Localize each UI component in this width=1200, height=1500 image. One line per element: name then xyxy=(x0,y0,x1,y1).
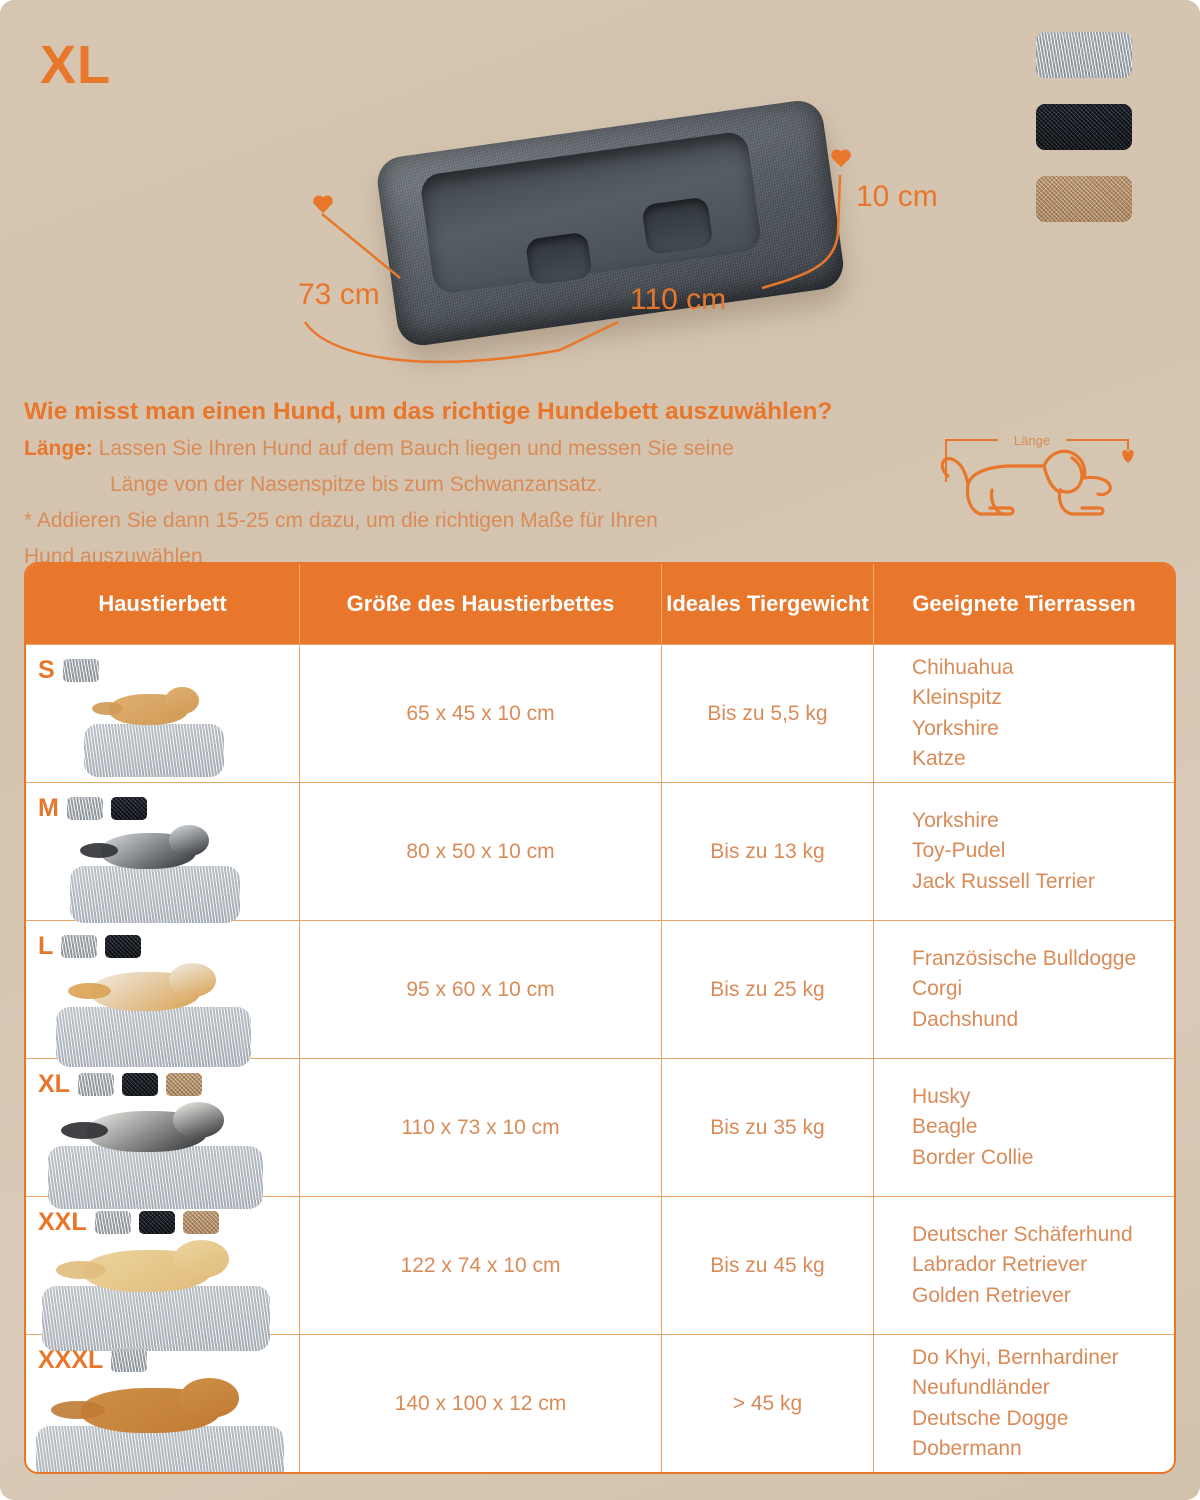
cell-bed-size: 65 x 45 x 10 cm xyxy=(300,645,662,782)
breed-item: Do Khyi, Bernhardiner xyxy=(912,1343,1174,1373)
cell-weight: Bis zu 13 kg xyxy=(662,783,874,920)
size-chart-table: Haustierbett Größe des Haustierbettes Id… xyxy=(24,562,1176,1474)
cell-bed-preview: L xyxy=(26,921,300,1058)
cell-weight: Bis zu 35 kg xyxy=(662,1059,874,1196)
cell-breeds: HuskyBeagleBorder Collie xyxy=(874,1059,1174,1196)
breed-item: Chihuahua xyxy=(912,653,1174,683)
row-swatch-tan[interactable] xyxy=(166,1073,202,1096)
note-line-1: * Addieren Sie dann 15-25 cm dazu, um di… xyxy=(24,507,924,536)
length-instruction-text: Lassen Sie Ihren Hund auf dem Bauch lieg… xyxy=(99,437,734,460)
row-swatch-gray[interactable] xyxy=(78,1073,114,1096)
heart-marker-depth-icon xyxy=(312,196,334,216)
infographic-page: XL 73 cm 110 cm 10 cm Wie misst man eine… xyxy=(0,0,1200,1500)
swatch-tan[interactable] xyxy=(1036,176,1132,222)
cell-bed-preview: XL xyxy=(26,1059,300,1196)
cell-breeds: Do Khyi, BernhardinerNeufundländerDeutsc… xyxy=(874,1335,1174,1472)
breed-item: Toy-Pudel xyxy=(912,836,1174,866)
illustration-length-label: Länge xyxy=(1014,433,1050,448)
breed-item: Golden Retriever xyxy=(912,1281,1174,1311)
bed-tuft xyxy=(641,196,713,255)
bed-mat xyxy=(84,724,224,777)
cell-weight: Bis zu 25 kg xyxy=(662,921,874,1058)
dog-tail xyxy=(68,983,111,999)
column-header-breeds: Geeignete Tierrassen xyxy=(874,564,1174,644)
dog-head xyxy=(180,1378,240,1418)
dog-head xyxy=(165,687,199,715)
row-size-header: M xyxy=(38,791,299,825)
bed-size-value: 110 x 73 x 10 cm xyxy=(401,1116,559,1140)
cell-bed-preview: XXXL xyxy=(26,1335,300,1472)
bed-size-value: 65 x 45 x 10 cm xyxy=(406,702,554,726)
row-swatch-navy[interactable] xyxy=(111,797,147,820)
length-instruction-line2: Länge von der Nasenspitze bis zum Schwan… xyxy=(24,471,924,500)
bed-thumbnail xyxy=(70,821,240,923)
table-row: S 65 x 45 x 10 cm Bis zu 5,5 kg Chihuahu… xyxy=(26,644,1174,782)
dog-head xyxy=(169,963,216,997)
dimension-label-height: 10 cm xyxy=(856,180,938,214)
weight-value: Bis zu 25 kg xyxy=(710,978,824,1002)
bed-size-value: 140 x 100 x 12 cm xyxy=(395,1392,567,1416)
heart-marker-height-icon xyxy=(830,150,852,170)
weight-value: > 45 kg xyxy=(733,1392,802,1416)
weight-value: Bis zu 13 kg xyxy=(710,840,824,864)
table-row: XL 110 x 73 x 10 cm Bis zu 35 kg HuskyBe… xyxy=(26,1058,1174,1196)
row-size-header: S xyxy=(38,653,299,687)
bed-mat xyxy=(70,866,240,923)
table-row: L 95 x 60 x 10 cm Bis zu 25 kg Französis… xyxy=(26,920,1174,1058)
cell-weight: > 45 kg xyxy=(662,1335,874,1472)
bed-size-value: 80 x 50 x 10 cm xyxy=(406,840,554,864)
cell-bed-size: 140 x 100 x 12 cm xyxy=(300,1335,662,1472)
dimension-label-width: 110 cm xyxy=(630,283,726,317)
row-swatch-gray[interactable] xyxy=(61,935,97,958)
row-swatch-navy[interactable] xyxy=(139,1211,175,1234)
breed-item: Beagle xyxy=(912,1112,1174,1142)
bed-size-value: 95 x 60 x 10 cm xyxy=(406,978,554,1002)
row-size-header: XXL xyxy=(38,1205,299,1239)
row-size-label: M xyxy=(38,796,59,821)
row-size-label: L xyxy=(38,934,53,959)
cell-bed-size: 110 x 73 x 10 cm xyxy=(300,1059,662,1196)
bed-tuft xyxy=(525,231,593,285)
breed-item: Neufundländer xyxy=(912,1373,1174,1403)
illustration-heart-icon xyxy=(1122,450,1133,463)
hero-size-badge: XL xyxy=(40,38,111,92)
cell-bed-preview: S xyxy=(26,645,300,782)
weight-value: Bis zu 35 kg xyxy=(710,1116,824,1140)
breed-item: Deutsche Dogge xyxy=(912,1404,1174,1434)
table-body: S 65 x 45 x 10 cm Bis zu 5,5 kg Chihuahu… xyxy=(26,644,1174,1472)
hero-color-swatches xyxy=(1036,32,1132,222)
cell-weight: Bis zu 45 kg xyxy=(662,1197,874,1334)
row-swatch-navy[interactable] xyxy=(105,935,141,958)
breed-item: Französische Bulldogge xyxy=(912,944,1174,974)
length-instruction: Länge: Lassen Sie Ihren Hund auf dem Bau… xyxy=(24,435,924,464)
row-swatch-gray[interactable] xyxy=(95,1211,131,1234)
dimension-label-depth: 73 cm xyxy=(298,278,380,312)
bed-thumbnail xyxy=(48,1097,263,1209)
breed-item: Deutscher Schäferhund xyxy=(912,1220,1174,1250)
bed-thumbnail xyxy=(84,683,224,777)
row-size-header: XXXL xyxy=(38,1343,299,1377)
breed-item: Husky xyxy=(912,1082,1174,1112)
row-size-header: L xyxy=(38,929,299,963)
cell-bed-size: 80 x 50 x 10 cm xyxy=(300,783,662,920)
dog-head xyxy=(169,825,210,856)
bed-size-value: 122 x 74 x 10 cm xyxy=(401,1254,561,1278)
column-header-size: Größe des Haustierbettes xyxy=(300,564,662,644)
cell-breeds: YorkshireToy-PudelJack Russell Terrier xyxy=(874,783,1174,920)
row-size-label: XL xyxy=(38,1072,70,1097)
dog-tail xyxy=(80,843,117,858)
hero-section: XL 73 cm 110 cm 10 cm xyxy=(0,0,1200,390)
bed-thumbnail xyxy=(56,959,251,1067)
row-swatch-navy[interactable] xyxy=(122,1073,158,1096)
breed-item: Corgi xyxy=(912,974,1174,1004)
swatch-navy[interactable] xyxy=(1036,104,1132,150)
dog-head xyxy=(173,1102,225,1138)
cell-bed-size: 95 x 60 x 10 cm xyxy=(300,921,662,1058)
row-size-label: S xyxy=(38,658,55,683)
length-label: Länge: xyxy=(24,437,93,460)
bed-thumbnail xyxy=(42,1235,270,1351)
column-header-bed: Haustierbett xyxy=(26,564,300,644)
row-swatch-gray[interactable] xyxy=(67,797,103,820)
breed-item: Jack Russell Terrier xyxy=(912,867,1174,897)
table-header-row: Haustierbett Größe des Haustierbettes Id… xyxy=(26,564,1174,644)
dog-tail xyxy=(61,1122,108,1139)
row-swatch-gray[interactable] xyxy=(111,1349,147,1372)
weight-value: Bis zu 5,5 kg xyxy=(707,702,827,726)
table-row: M 80 x 50 x 10 cm Bis zu 13 kg Yorkshire… xyxy=(26,782,1174,920)
cell-bed-preview: XXL xyxy=(26,1197,300,1334)
breed-item: Yorkshire xyxy=(912,806,1174,836)
cell-breeds: ChihuahuaKleinspitzYorkshireKatze xyxy=(874,645,1174,782)
bed-mat xyxy=(56,1007,251,1067)
breed-item: Kleinspitz xyxy=(912,683,1174,713)
product-bed-image xyxy=(355,56,865,370)
column-header-weight: Ideales Tiergewicht xyxy=(662,564,874,644)
swatch-light-gray[interactable] xyxy=(1036,32,1132,78)
measuring-instructions: Wie misst man einen Hund, um das richtig… xyxy=(24,396,924,572)
cell-weight: Bis zu 5,5 kg xyxy=(662,645,874,782)
bed-mat xyxy=(36,1426,284,1474)
row-size-label: XXL xyxy=(38,1210,87,1235)
bed-thumbnail xyxy=(36,1373,284,1474)
breed-item: Labrador Retriever xyxy=(912,1250,1174,1280)
breed-item: Dobermann xyxy=(912,1434,1174,1464)
row-size-label: XXXL xyxy=(38,1348,103,1373)
breed-item: Dachshund xyxy=(912,1005,1174,1035)
instructions-heading: Wie misst man einen Hund, um das richtig… xyxy=(24,396,924,428)
breed-item: Yorkshire xyxy=(912,714,1174,744)
row-swatch-tan[interactable] xyxy=(183,1211,219,1234)
cell-bed-size: 122 x 74 x 10 cm xyxy=(300,1197,662,1334)
row-size-header: XL xyxy=(38,1067,299,1101)
table-row: XXL 122 x 74 x 10 cm Bis zu 45 kg Deutsc… xyxy=(26,1196,1174,1334)
cell-breeds: Französische BulldoggeCorgiDachshund xyxy=(874,921,1174,1058)
row-swatch-gray[interactable] xyxy=(63,659,99,682)
weight-value: Bis zu 45 kg xyxy=(710,1254,824,1278)
dog-measurement-illustration: Länge xyxy=(932,424,1152,534)
cell-breeds: Deutscher SchäferhundLabrador RetrieverG… xyxy=(874,1197,1174,1334)
dog-head xyxy=(174,1240,229,1278)
cell-bed-preview: M xyxy=(26,783,300,920)
breed-item: Border Collie xyxy=(912,1143,1174,1173)
breed-item: Katze xyxy=(912,744,1174,774)
table-row: XXXL 140 x 100 x 12 cm > 45 kg Do Khyi, … xyxy=(26,1334,1174,1472)
